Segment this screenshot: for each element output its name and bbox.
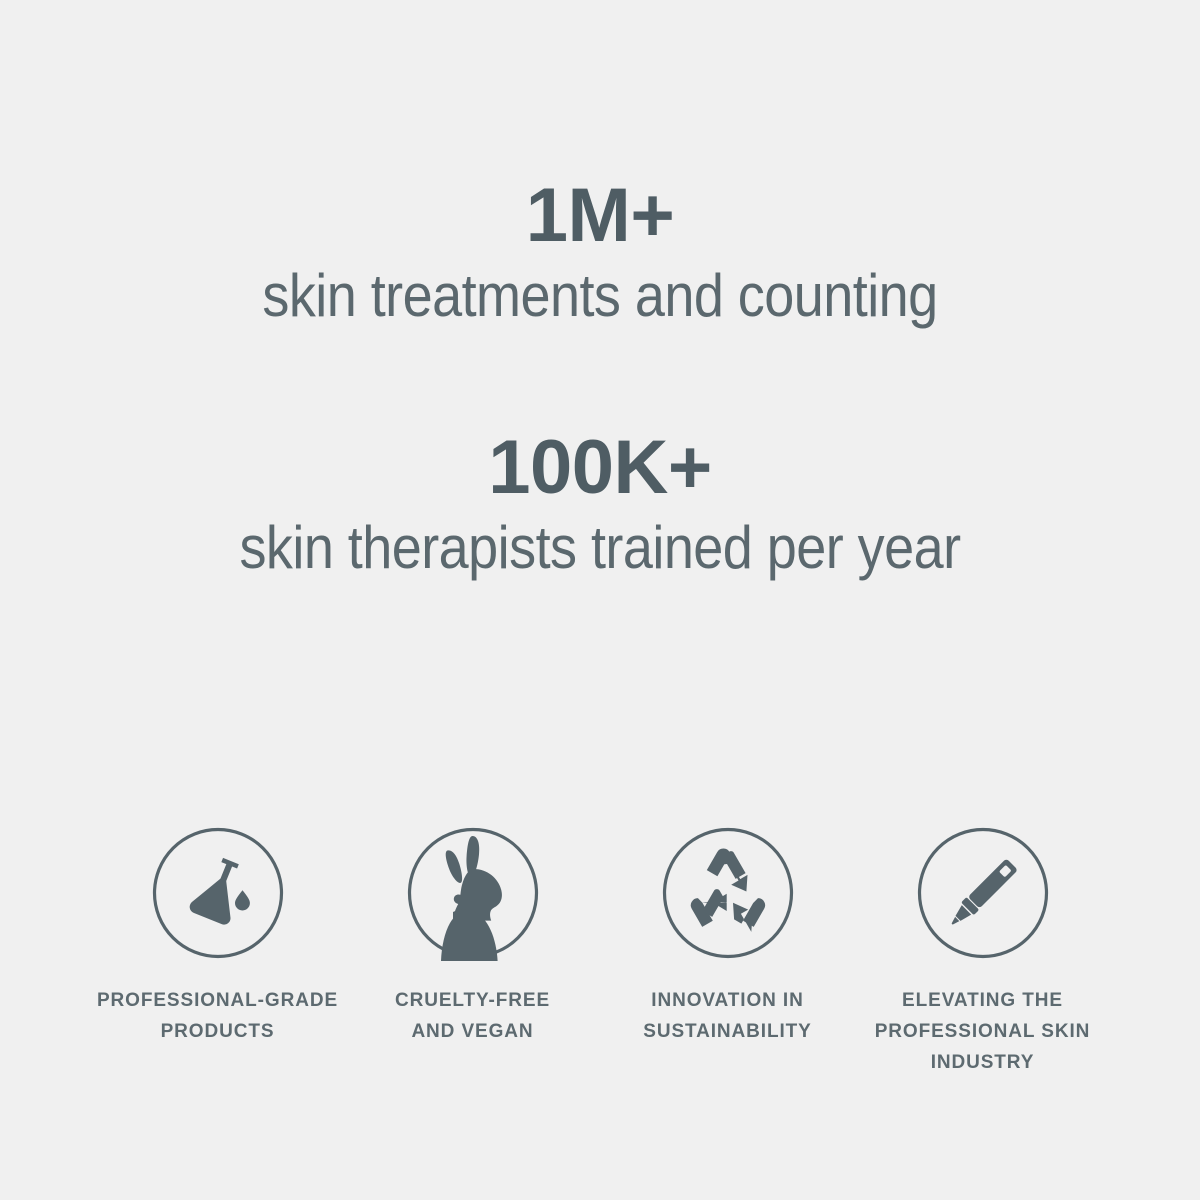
badge-label-cruelty-free-and-vegan: CRUELTY-FREE AND VEGAN bbox=[373, 986, 573, 1048]
stat-block-treatments: 1M+ skin treatments and counting bbox=[0, 176, 1200, 332]
stat-block-therapists: 100K+ skin therapists trained per year bbox=[0, 428, 1200, 584]
stat-number-therapists: 100K+ bbox=[0, 428, 1200, 507]
pen-icon bbox=[916, 826, 1050, 960]
stat-caption-therapists: skin therapists trained per year bbox=[60, 513, 1140, 584]
badge-row: PROFESSIONAL-GRADE PRODUCTS bbox=[0, 826, 1200, 1078]
badge-label-elevating-professional-skin-industry: ELEVATING THE PROFESSIONAL SKIN INDUSTRY bbox=[860, 986, 1105, 1078]
badge-label-innovation-in-sustainability: INNOVATION IN SUSTAINABILITY bbox=[628, 986, 828, 1048]
flask-droplet-icon bbox=[151, 826, 285, 960]
stat-number-treatments: 1M+ bbox=[0, 176, 1200, 255]
stat-caption-treatments: skin treatments and counting bbox=[60, 261, 1140, 332]
recycle-icon bbox=[661, 826, 795, 960]
brand-stats-panel: 1M+ skin treatments and counting 100K+ s… bbox=[0, 0, 1200, 1200]
badge-elevating-professional-skin-industry: ELEVATING THE PROFESSIONAL SKIN INDUSTRY bbox=[855, 826, 1110, 1078]
badge-cruelty-free-and-vegan: CRUELTY-FREE AND VEGAN bbox=[345, 826, 600, 1048]
badge-label-professional-grade-products: PROFESSIONAL-GRADE PRODUCTS bbox=[95, 986, 340, 1048]
rabbit-icon bbox=[406, 826, 540, 960]
badge-professional-grade-products: PROFESSIONAL-GRADE PRODUCTS bbox=[90, 826, 345, 1048]
badge-innovation-in-sustainability: INNOVATION IN SUSTAINABILITY bbox=[600, 826, 855, 1048]
statistics-section: 1M+ skin treatments and counting 100K+ s… bbox=[0, 0, 1200, 760]
